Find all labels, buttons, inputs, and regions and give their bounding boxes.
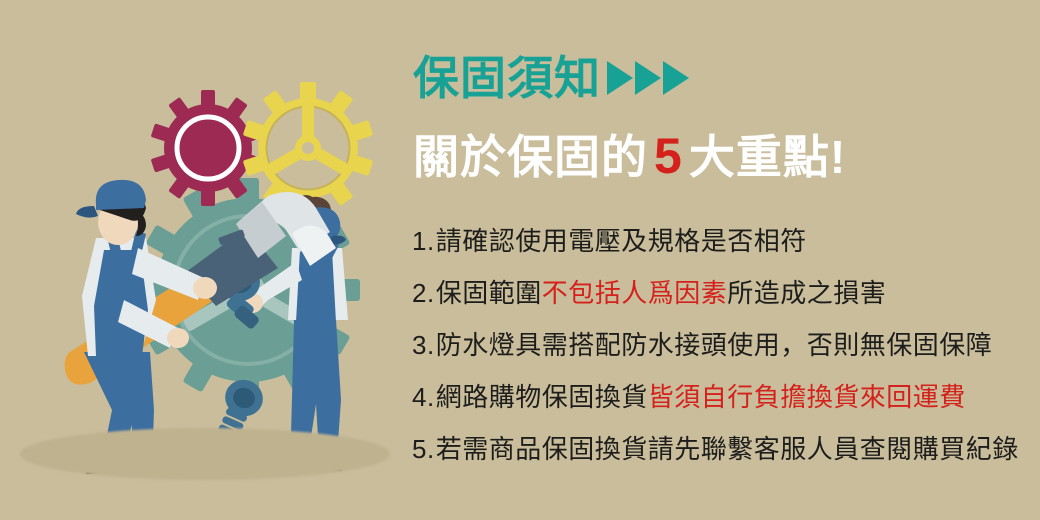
list-item-index: 2.: [412, 278, 435, 308]
list-item: 2.保固範圍不包括人爲因素所造成之損害: [412, 280, 1040, 306]
list-item: 3.防水燈具需搭配防水接頭使用，否則無保固保障: [412, 332, 1040, 358]
list-item-text: 若需商品保固換貨請先聯繫客服人員查閱購買紀錄: [436, 434, 1019, 464]
gear-yellow-icon: [243, 82, 373, 214]
list-item-index: 3.: [412, 330, 435, 360]
triangle-right-icon: [607, 61, 633, 95]
text-column: 保固須知 關於保固的5大重點! 1.請確認使用電壓及規格是否相符 2.保固範圍不…: [408, 0, 1040, 520]
list-item: 1.請確認使用電壓及規格是否相符: [412, 228, 1040, 254]
subtitle-suffix: 大重點!: [689, 131, 846, 183]
ground-shadow: [20, 428, 390, 480]
list-item-text: 網路購物保固換貨: [436, 382, 648, 412]
warranty-notice-banner: 保固須知 關於保固的5大重點! 1.請確認使用電壓及規格是否相符 2.保固範圍不…: [0, 0, 1040, 520]
title-arrows: [605, 61, 689, 95]
triangle-right-icon: [663, 61, 689, 95]
list-item-highlight: 皆須自行負擔換貨來回運費: [648, 382, 966, 412]
subtitle-prefix: 關於保固的: [413, 131, 648, 183]
list-item-text: 保固範圍: [436, 278, 542, 308]
list-item-index: 1.: [412, 226, 435, 256]
page-subtitle: 關於保固的5大重點!: [413, 125, 846, 188]
warranty-points-list: 1.請確認使用電壓及規格是否相符 2.保固範圍不包括人爲因素所造成之損害 3.防…: [412, 228, 1040, 488]
list-item-index: 4.: [412, 382, 435, 412]
mechanics-illustration: [0, 0, 420, 520]
list-item: 4.網路購物保固換貨皆須自行負擔換貨來回運費: [412, 384, 1040, 410]
page-title: 保固須知: [413, 55, 689, 101]
list-item-text: 所造成之損害: [727, 278, 886, 308]
list-item-text: 防水燈具需搭配防水接頭使用，否則無保固保障: [436, 330, 993, 360]
list-item-text: 請確認使用電壓及規格是否相符: [436, 226, 807, 256]
list-item: 5.若需商品保固換貨請先聯繫客服人員查閱購買紀錄: [412, 436, 1040, 462]
page-title-text: 保固須知: [413, 55, 601, 101]
triangle-right-icon: [635, 61, 661, 95]
list-item-index: 5.: [412, 434, 435, 464]
subtitle-number: 5: [648, 128, 689, 184]
list-item-highlight: 不包括人爲因素: [542, 278, 728, 308]
